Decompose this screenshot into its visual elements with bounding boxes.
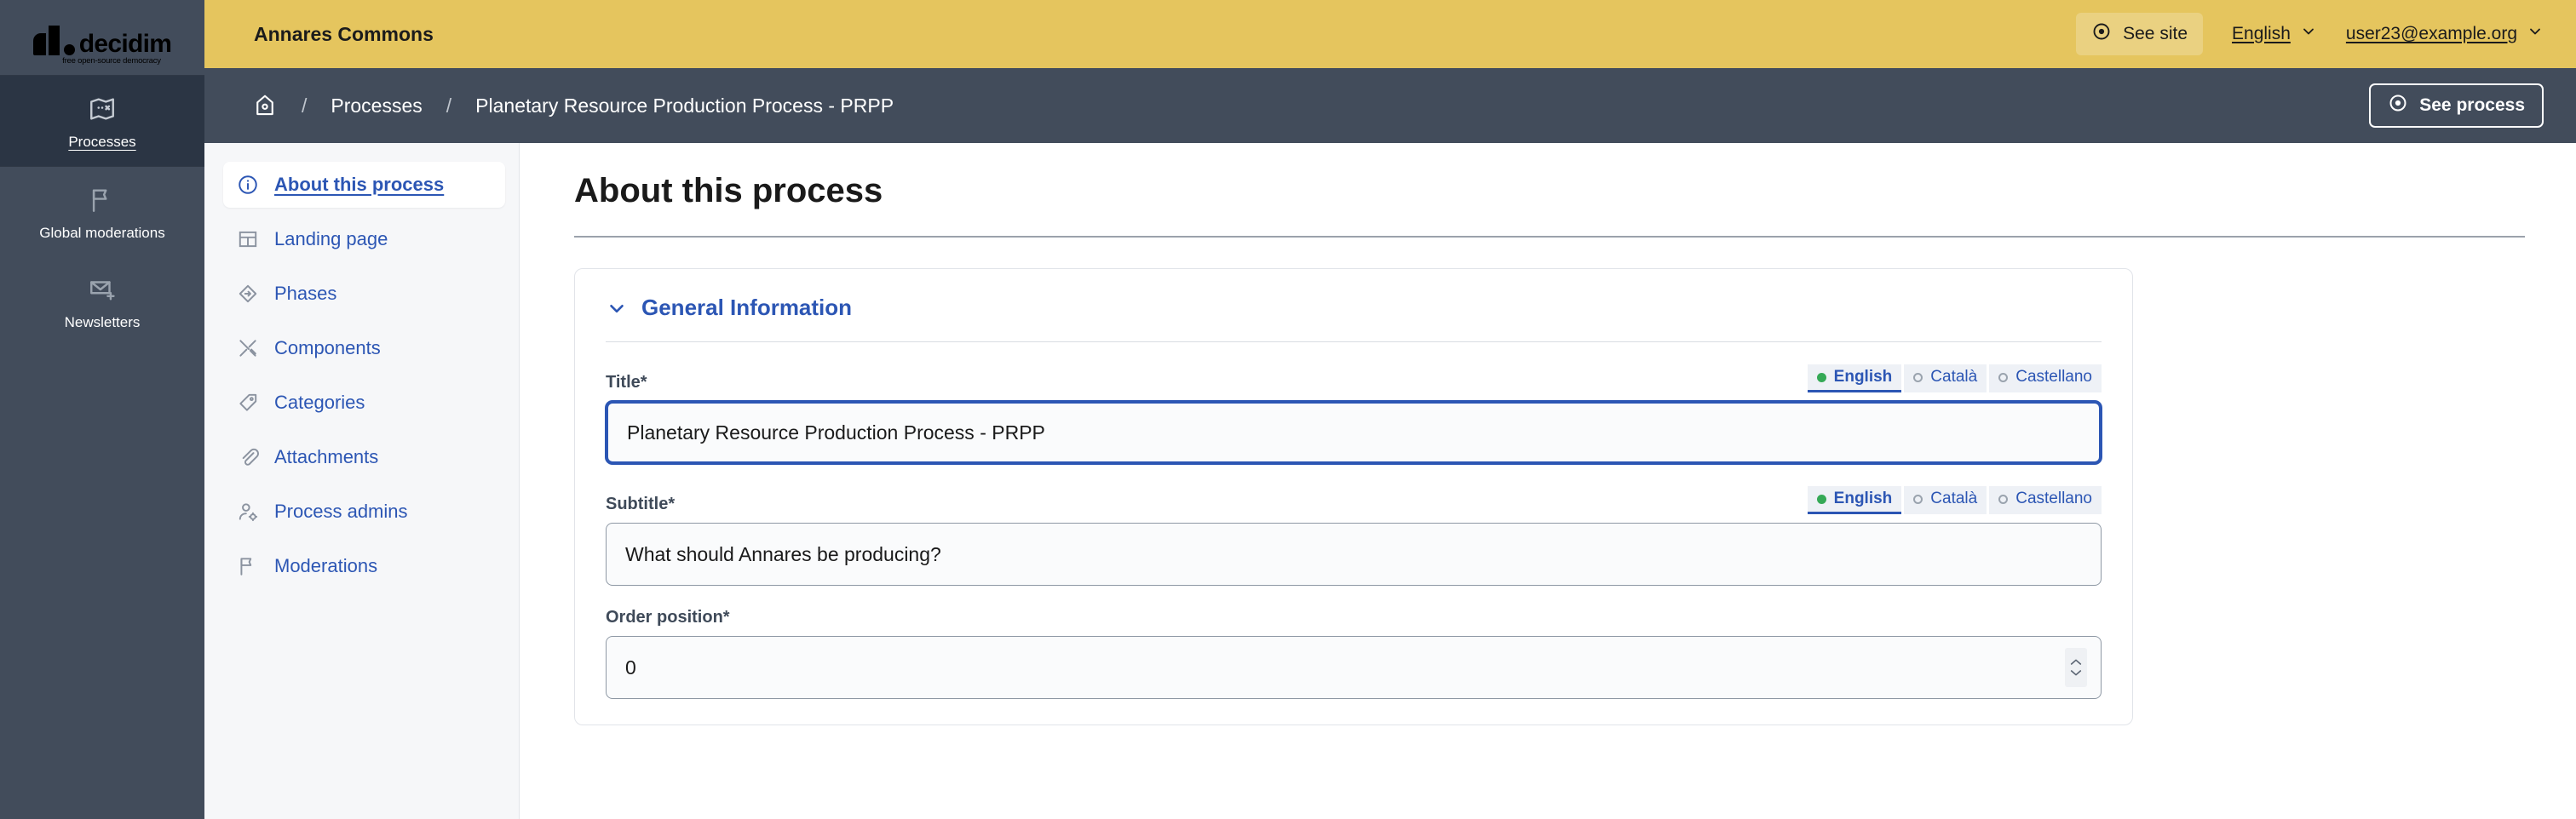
breadcrumb-separator: /	[423, 94, 475, 117]
chevron-up-icon	[2069, 658, 2083, 667]
sidebar-item-moderations[interactable]: Moderations	[223, 543, 505, 589]
see-process-button[interactable]: See process	[2369, 83, 2544, 128]
sidebar-item-label: Landing page	[274, 228, 388, 250]
top-bar-actions: See site English user23@example.org	[2076, 13, 2544, 55]
lang-tab-catala[interactable]: Català	[1904, 364, 1987, 392]
field-label: Title*	[606, 373, 647, 392]
field-header: Order position*	[606, 608, 2102, 627]
lang-empty-dot-icon	[1913, 495, 1923, 504]
lang-empty-dot-icon	[1913, 373, 1923, 382]
order-position-input-wrap: 0	[606, 636, 2102, 699]
user-menu[interactable]: user23@example.org	[2346, 23, 2544, 45]
info-circle-icon	[237, 174, 259, 196]
lang-tab-english[interactable]: English	[1808, 486, 1902, 514]
lang-tab-label: English	[1834, 490, 1893, 508]
sidebar-item-attachments[interactable]: Attachments	[223, 434, 505, 480]
mail-plus-icon	[88, 275, 117, 304]
lang-tab-catala[interactable]: Català	[1904, 486, 1987, 514]
user-settings-icon	[237, 501, 259, 523]
sidebar-item-phases[interactable]: Phases	[223, 271, 505, 317]
title-divider	[574, 236, 2525, 238]
tools-icon	[237, 337, 259, 359]
rail-item-processes[interactable]: Processes	[0, 76, 204, 166]
sidebar-item-label: About this process	[274, 174, 444, 196]
page-title: About this process	[574, 172, 2576, 210]
order-position-input[interactable]: 0	[625, 656, 636, 679]
field-title: Title* English Català	[606, 364, 2102, 464]
title-input[interactable]: Planetary Resource Production Process - …	[606, 401, 2102, 464]
sidebar-item-process-admins[interactable]: Process admins	[223, 489, 505, 535]
lang-tab-label: Català	[1930, 490, 1977, 508]
logo-mark-icon	[33, 26, 75, 55]
chevron-down-icon	[2527, 23, 2544, 45]
layout-grid-icon	[237, 228, 259, 250]
breadcrumb-item-processes[interactable]: Processes	[331, 94, 422, 117]
admin-app: decidim free open-source democracy Proce…	[0, 0, 2576, 819]
accordion-divider	[606, 341, 2102, 342]
right-pane: Annares Commons See site English	[204, 0, 2576, 819]
see-site-label: See site	[2123, 24, 2188, 44]
user-email: user23@example.org	[2346, 24, 2517, 44]
field-order-position: Order position* 0	[606, 608, 2102, 699]
rail-item-label: Newsletters	[65, 314, 141, 331]
language-tabs: English Català Castellano	[1808, 486, 2102, 514]
rail-item-global-moderations[interactable]: Global moderations	[0, 167, 204, 257]
see-site-button[interactable]: See site	[2076, 13, 2203, 55]
diamond-arrow-icon	[237, 283, 259, 305]
field-header: Subtitle* English Català	[606, 486, 2102, 514]
number-stepper[interactable]	[2065, 648, 2087, 687]
flag-icon	[237, 555, 259, 577]
paperclip-icon	[237, 446, 259, 468]
language-selector[interactable]: English	[2232, 23, 2317, 45]
lang-empty-dot-icon	[1998, 373, 2008, 382]
breadcrumb-bar: / Processes / Planetary Resource Product…	[204, 68, 2576, 143]
lang-tab-castellano[interactable]: Castellano	[1989, 486, 2102, 514]
field-label: Order position*	[606, 608, 730, 627]
lang-tab-castellano[interactable]: Castellano	[1989, 364, 2102, 392]
language-tabs: English Català Castellano	[1808, 364, 2102, 392]
rail-item-newsletters[interactable]: Newsletters	[0, 256, 204, 346]
eye-target-icon	[2091, 21, 2112, 47]
lang-empty-dot-icon	[1998, 495, 2008, 504]
chevron-down-icon	[2300, 23, 2317, 45]
main-content: About this process General Information T…	[520, 143, 2576, 819]
rail-item-label: Global moderations	[39, 225, 164, 242]
see-process-label: See process	[2419, 95, 2525, 116]
lang-tab-english[interactable]: English	[1808, 364, 1902, 392]
rail-item-label: Processes	[68, 134, 135, 151]
sidebar-item-label: Process admins	[274, 501, 408, 523]
chevron-down-icon	[606, 297, 628, 319]
process-secondary-nav: About this process Landing page	[204, 143, 520, 819]
sidebar-item-label: Categories	[274, 392, 365, 414]
breadcrumb-item-current: Planetary Resource Production Process - …	[475, 94, 894, 117]
top-bar: Annares Commons See site English	[204, 0, 2576, 68]
general-information-accordion-toggle[interactable]: General Information	[606, 295, 2102, 321]
sidebar-item-label: Moderations	[274, 555, 377, 577]
field-label: Subtitle*	[606, 495, 675, 514]
sidebar-item-label: Phases	[274, 283, 336, 305]
field-header: Title* English Català	[606, 364, 2102, 392]
lang-tab-label: English	[1834, 368, 1893, 387]
home-icon[interactable]	[252, 93, 278, 118]
flag-icon	[88, 186, 117, 215]
sidebar-item-label: Components	[274, 337, 381, 359]
lang-tab-label: Català	[1930, 368, 1977, 387]
sidebar-item-components[interactable]: Components	[223, 325, 505, 371]
eye-icon	[2388, 93, 2408, 118]
subtitle-input[interactable]: What should Annares be producing?	[606, 523, 2102, 586]
logo-wordmark: decidim	[79, 33, 171, 55]
chevron-down-icon	[2069, 668, 2083, 677]
sidebar-item-categories[interactable]: Categories	[223, 380, 505, 426]
general-information-card: General Information Title* English	[574, 268, 2133, 725]
field-subtitle: Subtitle* English Català	[606, 486, 2102, 586]
breadcrumb: / Processes / Planetary Resource Product…	[252, 93, 894, 118]
price-tag-icon	[237, 392, 259, 414]
lang-filled-dot-icon	[1817, 495, 1826, 504]
logo-tagline: free open-source democracy	[62, 56, 161, 66]
organization-title: Annares Commons	[254, 23, 434, 46]
content-body: About this process Landing page	[204, 143, 2576, 819]
left-icon-rail: decidim free open-source democracy Proce…	[0, 0, 204, 819]
sidebar-item-label: Attachments	[274, 446, 378, 468]
language-label: English	[2232, 24, 2291, 44]
accordion-title: General Information	[641, 295, 852, 321]
sidebar-item-landing-page[interactable]: Landing page	[223, 216, 505, 262]
lang-tab-label: Castellano	[2015, 368, 2092, 387]
rail-items: Processes Global moderations	[0, 76, 204, 346]
sidebar-item-about-this-process[interactable]: About this process	[223, 162, 505, 208]
map-icon	[88, 94, 117, 123]
lang-tab-label: Castellano	[2015, 490, 2092, 508]
decidim-logo[interactable]: decidim free open-source democracy	[0, 0, 204, 75]
breadcrumb-separator: /	[278, 94, 331, 117]
lang-filled-dot-icon	[1817, 373, 1826, 382]
